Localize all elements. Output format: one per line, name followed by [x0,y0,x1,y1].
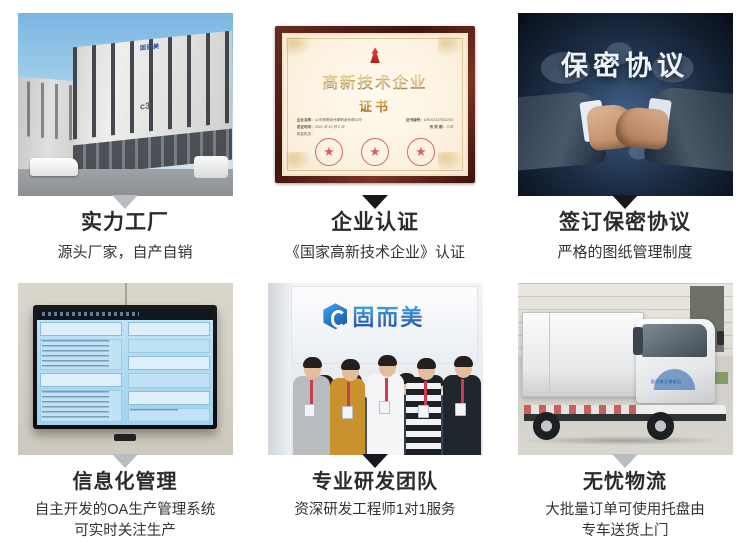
factory-subtitle: 源头厂家，自产自销 [0,242,250,263]
rnd-team-caption: 专业研发团队 资深研发工程师1对1服务 [250,469,500,521]
id-badge [342,406,353,419]
building-block-label: c3 [140,100,150,111]
lanyard [310,380,313,406]
red-star-seal-icon: ★ [315,138,343,166]
id-badge [455,403,466,416]
ground-shadow [524,436,722,445]
side-mirror [717,331,724,345]
id-badge [379,401,390,414]
certificate-frame: 高新技术企业 证书 企业名称：山东固而美金属制品有限公司 证书编号：GR2021… [275,26,475,183]
certification-caption: 企业认证 《国家高新技术企业》认证 [250,210,500,263]
monitor-photo-wrap [18,283,233,455]
certificate-face: 高新技术企业 证书 企业名称：山东固而美金属制品有限公司 证书编号：GR2021… [282,33,468,176]
certification-title: 企业认证 [250,210,500,236]
triangle-pointer-icon [362,195,388,209]
pane-data-block [40,339,122,370]
cert-issue-line: 发证时间：2021 年 12 月 2 日 [297,124,345,131]
cert-number-line: 证书编号：GR202137002293 [406,117,453,124]
cert-issue-value: 2021 年 12 月 2 日 [315,125,345,129]
pane-data-block [40,390,122,421]
factory-building-photo: 固而美 c3 [18,13,233,196]
cargo-box-body [522,312,644,397]
rnd-team-title: 专业研发团队 [250,469,500,495]
advantage-card-factory[interactable]: 固而美 c3 实力工厂 源头厂家，自产自销 [0,0,250,278]
informatization-subtitle: 自主开发的OA生产管理系统 可实时关注生产 [0,500,250,542]
flame-emblem-icon [368,47,382,63]
cert-valid-line: 有 效 期：三年 [430,124,454,131]
corner-ornament-icon [286,37,312,57]
dashboard-pane-left [40,322,122,422]
nda-caption: 签订保密协议 严格的图纸管理制度 [500,210,750,263]
advantage-row-top: 固而美 c3 实力工厂 源头厂家，自产自销 [0,0,750,278]
pane-data-block [128,373,210,387]
logistics-subtitle: 大批量订单可使用托盘由 专车送货上门 [500,500,750,542]
id-badge [418,405,429,418]
company-logo-text: 固而美 [352,300,424,332]
advantage-card-logistics[interactable]: 固而美金属制品 无忧物流 大批量订单可使用托盘由 专车送货上门 [500,278,750,556]
person-head [342,362,359,381]
factory-photo-wrap: 固而美 c3 [18,13,233,196]
advantage-row-bottom: 信息化管理 自主开发的OA生产管理系统 可实时关注生产 固而美 [0,278,750,556]
advantage-card-informatization[interactable]: 信息化管理 自主开发的OA生产管理系统 可实时关注生产 [0,278,250,556]
pane-header [40,322,122,336]
rnd-team-subtitle: 资深研发工程师1对1服务 [250,500,500,521]
cab-window [642,324,707,357]
certificate-subtitle: 证书 [284,96,466,115]
certification-subtitle: 《国家高新技术企业》认证 [250,242,500,263]
pane-header [40,373,122,387]
logistics-title: 无忧物流 [500,469,750,495]
triangle-pointer-icon [362,454,388,468]
handshake-nda-photo: 保密协议 [518,13,733,196]
cert-number-label: 证书编号： [406,118,424,122]
id-badge [304,404,315,417]
cert-valid-value: 三年 [446,125,453,129]
pane-header [128,391,210,405]
red-star-seal-icon: ★ [407,138,435,166]
red-star-seal-icon: ★ [361,138,389,166]
pane-header [128,322,210,336]
cert-valid-label: 有 效 期： [430,125,446,129]
corner-ornament-icon [438,37,464,57]
pane-data-block [128,339,210,353]
dashboard-panes [40,322,210,422]
nda-overlay-text: 保密协议 [518,44,733,83]
certificate-photo-wrap: 高新技术企业 证书 企业名称：山东固而美金属制品有限公司 证书编号：GR2021… [268,13,483,196]
advantage-card-certification[interactable]: 高新技术企业 证书 企业名称：山东固而美金属制品有限公司 证书编号：GR2021… [250,0,500,278]
team-members [287,348,483,455]
lanyard [461,379,464,405]
oa-dashboard-monitor-photo [18,283,233,455]
cert-company-line: 企业名称：山东固而美金属制品有限公司 [297,117,362,124]
lanyard [424,381,427,407]
cert-issue-label: 发证时间： [297,125,315,129]
logistics-caption: 无忧物流 大批量订单可使用托盘由 专车送货上门 [500,469,750,542]
certificate-fields: 企业名称：山东固而美金属制品有限公司 证书编号：GR202137002293 发… [297,117,453,138]
advantages-infographic: 固而美 c3 实力工厂 源头厂家，自产自销 [0,0,750,557]
triangle-pointer-icon [112,195,138,209]
lanyard [385,378,388,404]
person-head [379,358,396,377]
cert-number-value: GR202137002293 [424,118,453,122]
informatization-title: 信息化管理 [0,469,250,495]
advantage-card-rnd-team[interactable]: 固而美 [250,278,500,556]
monitor-bezel [33,305,218,429]
truck-decal-graphic [647,362,703,390]
certificate-seals: ★ ★ ★ [284,138,466,166]
rnd-team-group-photo: 固而美 [268,283,483,455]
truck-photo-wrap: 固而美金属制品 [518,283,733,455]
dashboard-pane-right [128,322,210,422]
parked-truck [194,156,228,178]
team-photo-wrap: 固而美 [268,283,483,455]
pane-data-block [128,408,210,422]
informatization-caption: 信息化管理 自主开发的OA生产管理系统 可实时关注生产 [0,469,250,542]
parked-van [30,158,77,176]
advantage-card-nda[interactable]: 保密协议 签订保密协议 严格的图纸管理制度 [500,0,750,278]
hex-logo-icon [323,303,347,329]
adjacent-building-windows [18,80,78,141]
nda-subtitle: 严格的图纸管理制度 [500,242,750,263]
nda-photo-wrap: 保密协议 [518,13,733,196]
factory-caption: 实力工厂 源头厂家，自产自销 [0,210,250,263]
right-hand [615,106,670,151]
triangle-pointer-icon [612,454,638,468]
lanyard [347,382,350,408]
nda-title: 签订保密协议 [500,210,750,236]
delivery-box-truck-photo: 固而美金属制品 [518,283,733,455]
monitor-mount [114,434,136,441]
company-logo: 固而美 [323,300,424,332]
pane-header [128,356,210,370]
triangle-pointer-icon [112,454,138,468]
cert-company-value: 山东固而美金属制品有限公司 [315,118,362,122]
certificate-title: 高新技术企业 [284,71,466,93]
triangle-pointer-icon [612,195,638,209]
truck-decal-text: 固而美金属制品 [651,379,682,385]
monitor-screen [37,309,214,425]
high-tech-enterprise-certificate-photo: 高新技术企业 证书 企业名称：山东固而美金属制品有限公司 证书编号：GR2021… [268,13,483,196]
browser-address-bar [37,309,214,319]
cert-company-label: 企业名称： [297,118,315,122]
factory-title: 实力工厂 [0,210,250,236]
